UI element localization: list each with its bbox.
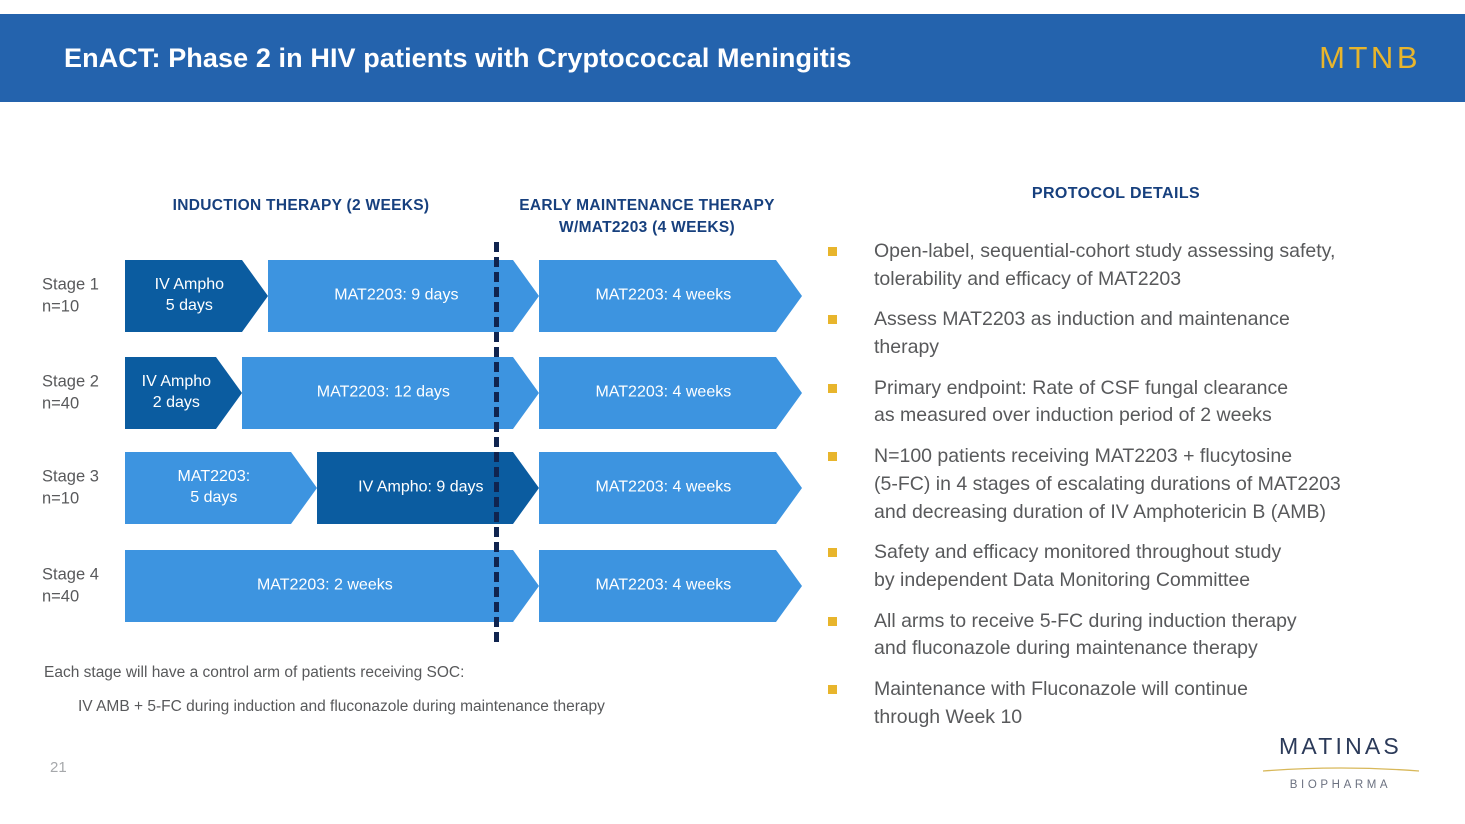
stage-bar: MAT2203: 5 daysIV Ampho: 9 daysMAT2203: … <box>125 452 802 524</box>
bullet-square-icon <box>828 247 837 256</box>
logo-swoosh-icon <box>1261 765 1421 773</box>
column-header-induction-therapy: INDUCTION THERAPY (2 WEEKS) <box>153 195 449 217</box>
stock-ticker-label: MTNB <box>1319 40 1421 76</box>
list-item-text: Assess MAT2203 as induction and maintena… <box>874 306 1290 361</box>
stage-segment-shape <box>539 260 802 332</box>
bullet-square-icon <box>828 548 837 557</box>
bullet-square-icon <box>828 315 837 324</box>
list-item-text: All arms to receive 5-FC during inductio… <box>874 608 1297 663</box>
list-item: Primary endpoint: Rate of CSF fungal cle… <box>828 375 1453 430</box>
footnote-control-arm: Each stage will have a control arm of pa… <box>44 664 464 682</box>
stage-label: Stage 2 n=40 <box>42 371 124 416</box>
stage-segment-shape <box>125 452 317 524</box>
stage-bar: IV Ampho 2 daysMAT2203: 12 daysMAT2203: … <box>125 357 802 429</box>
stage-bar-graphic <box>125 357 802 429</box>
protocol-details-heading: PROTOCOL DETAILS <box>836 185 1396 203</box>
bullet-square-icon <box>828 617 837 626</box>
stage-bar: MAT2203: 2 weeksMAT2203: 4 weeks <box>125 550 802 622</box>
protocol-details-list: Open-label, sequential-cohort study asse… <box>828 238 1453 744</box>
stage-segment-shape <box>539 452 802 524</box>
column-header-maintenance-therapy: EARLY MAINTENANCE THERAPY W/MAT2203 (4 W… <box>487 195 807 240</box>
list-item: Open-label, sequential-cohort study asse… <box>828 238 1453 293</box>
list-item: Assess MAT2203 as induction and maintena… <box>828 306 1453 361</box>
bullet-square-icon <box>828 685 837 694</box>
stage-segment-shape <box>125 260 268 332</box>
list-item: N=100 patients receiving MAT2203 + flucy… <box>828 443 1453 526</box>
stage-label: Stage 4 n=40 <box>42 564 124 609</box>
stage-segment-shape <box>125 550 539 622</box>
slide-header-bar: EnACT: Phase 2 in HIV patients with Cryp… <box>0 14 1465 102</box>
stage-row: Stage 4 n=40MAT2203: 2 weeksMAT2203: 4 w… <box>42 550 802 622</box>
stage-segment-shape <box>539 357 802 429</box>
phase-divider-line <box>494 242 499 642</box>
page-title: EnACT: Phase 2 in HIV patients with Cryp… <box>64 43 852 74</box>
stage-label: Stage 1 n=10 <box>42 274 124 319</box>
list-item: All arms to receive 5-FC during inductio… <box>828 608 1453 663</box>
stage-segment-shape <box>539 550 802 622</box>
stage-row: Stage 2 n=40IV Ampho 2 daysMAT2203: 12 d… <box>42 357 802 429</box>
list-item-text: Safety and efficacy monitored throughout… <box>874 539 1281 594</box>
list-item-text: N=100 patients receiving MAT2203 + flucy… <box>874 443 1341 526</box>
stage-segment-shape <box>317 452 539 524</box>
list-item-text: Open-label, sequential-cohort study asse… <box>874 238 1335 293</box>
list-item: Safety and efficacy monitored throughout… <box>828 539 1453 594</box>
list-item-text: Primary endpoint: Rate of CSF fungal cle… <box>874 375 1288 430</box>
logo-subtitle: BIOPHARMA <box>1258 779 1423 791</box>
page-number: 21 <box>50 759 67 776</box>
stage-bar-graphic <box>125 550 802 622</box>
list-item: Maintenance with Fluconazole will contin… <box>828 676 1453 731</box>
stage-segment-shape <box>125 357 242 429</box>
footnote-soc-detail: IV AMB + 5-FC during induction and fluco… <box>78 698 605 716</box>
stage-bar-graphic <box>125 260 802 332</box>
stage-bar: IV Ampho 5 daysMAT2203: 9 daysMAT2203: 4… <box>125 260 802 332</box>
stage-row: Stage 3 n=10MAT2203: 5 daysIV Ampho: 9 d… <box>42 452 802 524</box>
logo-wordmark: MATINAS <box>1258 733 1423 760</box>
stage-bar-graphic <box>125 452 802 524</box>
list-item-text: Maintenance with Fluconazole will contin… <box>874 676 1248 731</box>
bullet-square-icon <box>828 384 837 393</box>
stage-label: Stage 3 n=10 <box>42 466 124 511</box>
bullet-square-icon <box>828 452 837 461</box>
company-logo: MATINAS BIOPHARMA <box>1258 733 1423 791</box>
stage-row: Stage 1 n=10IV Ampho 5 daysMAT2203: 9 da… <box>42 260 802 332</box>
